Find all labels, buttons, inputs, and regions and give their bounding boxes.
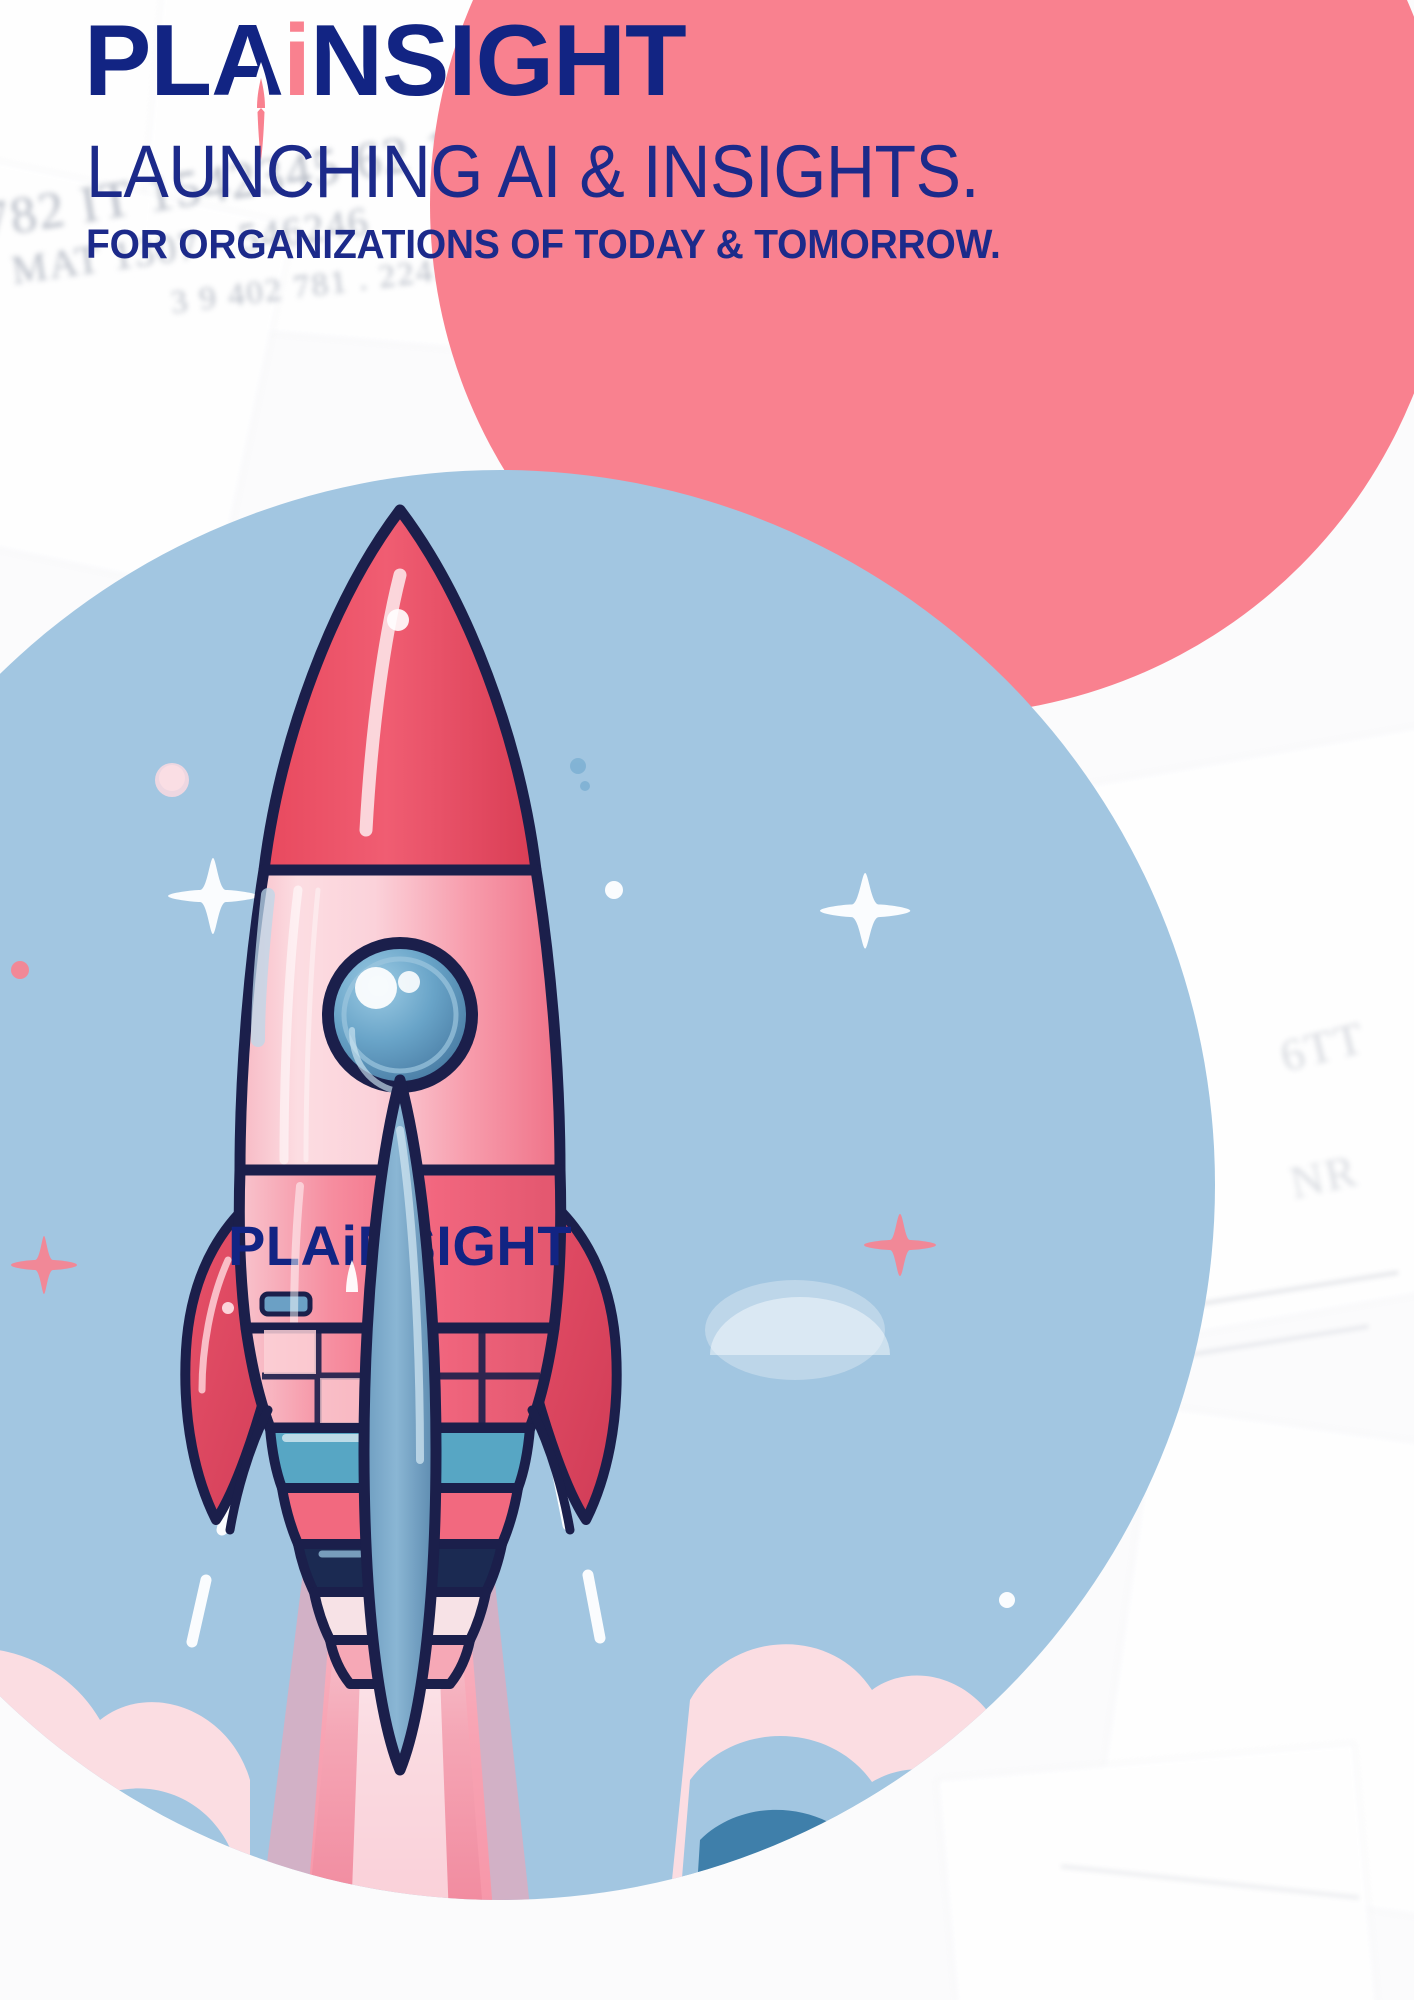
rocket-launch-illustration: PLAiNSIGHT bbox=[0, 470, 1414, 2000]
subheadline: FOR ORGANIZATIONS OF TODAY & TOMORROW. bbox=[86, 221, 1348, 268]
brand-logo-text: PLAiNSIGHT bbox=[84, 11, 686, 112]
logo-text-pl: PL bbox=[84, 11, 211, 112]
logo-text-i: i bbox=[283, 11, 310, 112]
logo-text-a: A bbox=[211, 11, 283, 112]
brand-logo: PLAiNSIGHT bbox=[84, 0, 1414, 120]
header-block: PLAiNSIGHT LAUNCHING AI & INSIGHTS. FOR … bbox=[0, 0, 1414, 268]
headline: LAUNCHING AI & INSIGHTS. bbox=[86, 134, 1308, 209]
logo-text-nsight: NSIGHT bbox=[310, 11, 686, 112]
poster-root: 782 IT 1542345 62 1 MAT 1307 - 546246 3 … bbox=[0, 0, 1414, 2000]
